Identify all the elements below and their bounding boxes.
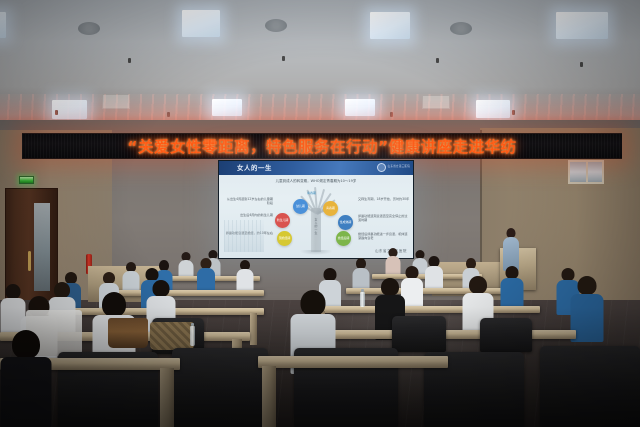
- ceiling-sprinkler-icon: [55, 110, 58, 115]
- attendee: [424, 256, 443, 291]
- water-bottle: [360, 292, 365, 307]
- ceiling-vent: [265, 19, 287, 32]
- attendee-head: [381, 278, 399, 296]
- ceiling-light: [476, 100, 510, 118]
- led-banner-text: “关爱女性零距离，特色服务在行动”健康讲座走进华纺: [127, 135, 516, 157]
- tree-note-right: 又称生育期，18岁开始，历时约30年: [358, 197, 410, 201]
- ceiling-sprinkler-icon: [436, 58, 439, 63]
- tree-node: 新生儿期: [275, 213, 290, 228]
- chair[interactable]: [172, 348, 268, 427]
- ceiling-access-panel: [422, 95, 450, 109]
- desk: [312, 306, 540, 313]
- tree-node: 围绝经期: [277, 231, 292, 246]
- tree-note-right: 绝经后卵巢功能进一步衰退，机体逐渐趋向衰老: [358, 232, 410, 240]
- tree-node: 青春期: [323, 201, 338, 216]
- handbag: [150, 322, 194, 350]
- wall-window: [568, 160, 604, 184]
- tree-node: 绝经后期: [336, 231, 351, 246]
- ceiling-sprinkler-icon: [128, 58, 131, 63]
- ceiling-sprinkler-icon: [580, 62, 583, 67]
- ceiling-light: [370, 12, 410, 39]
- ceiling: [0, 0, 640, 140]
- desk-leg: [160, 368, 174, 427]
- attendee-head: [578, 276, 597, 295]
- ceiling-light: [212, 99, 242, 116]
- attendee: [122, 262, 140, 292]
- ceiling-light: [0, 12, 6, 38]
- door-handle[interactable]: [28, 251, 31, 271]
- tree-note-right: 卵巢功能逐渐衰退直至完全停止的过渡时期: [358, 214, 410, 222]
- tree-note-left: 出生后4周内的新生儿期: [225, 213, 273, 217]
- tree-trunk-label: 女人的一生: [314, 218, 318, 235]
- ceiling-light: [556, 12, 608, 39]
- attendee: [352, 258, 370, 291]
- ceiling-access-panel: [102, 94, 130, 109]
- chair[interactable]: [540, 346, 640, 427]
- door-glass-panel: [34, 203, 50, 291]
- ceiling-vent: [78, 22, 100, 35]
- presentation-slide: 女人的一生 山东省立第三医院 儿童到成人的转变期，WHO规定青春期为10～19岁…: [219, 161, 413, 258]
- water-bottle: [190, 326, 195, 346]
- led-banner: “关爱女性零距离，特色服务在行动”健康讲座走进华纺: [22, 133, 622, 159]
- tree-node-label: 青春期: [326, 207, 335, 210]
- desk: [258, 356, 448, 368]
- attendee: [236, 260, 254, 292]
- tree-node-label: 绝经后期: [338, 237, 350, 240]
- ceiling-vent: [450, 22, 472, 35]
- attendee-head: [6, 284, 21, 299]
- tree-node-label: 新生儿期: [277, 219, 289, 222]
- ceiling-sprinkler-icon: [167, 112, 170, 117]
- attendee-head: [469, 276, 487, 294]
- tree-node-label: 幼儿期: [296, 205, 305, 208]
- attendee-body: [1, 357, 52, 427]
- chair[interactable]: [480, 318, 532, 352]
- attendee: [196, 258, 215, 292]
- tree-note-left: 从出生4周起到12岁左右的儿童期阶段: [225, 197, 273, 205]
- projection-screen: 女人的一生 山东省立第三医院 儿童到成人的转变期，WHO规定青春期为10～19岁…: [218, 160, 414, 259]
- tree-node: 性成熟期: [338, 215, 353, 230]
- desk-leg: [262, 366, 276, 427]
- tree-node-label: 性成熟期: [340, 221, 352, 224]
- lecture-hall-photo: “关爱女性零距离，特色服务在行动”健康讲座走进华纺 女人的一生 山东省立第三医院…: [0, 0, 640, 427]
- attendee-head: [301, 290, 326, 316]
- tree-trunk: 女人的一生: [311, 208, 321, 252]
- attendee: [178, 252, 194, 278]
- desk-leg: [250, 313, 257, 345]
- chair[interactable]: [392, 316, 446, 352]
- ceiling-light: [345, 99, 375, 116]
- handbag: [108, 318, 148, 348]
- slide-building-watermark: [224, 220, 264, 252]
- attendee-head: [12, 330, 40, 359]
- attendee-head: [153, 280, 170, 297]
- attendee: [385, 248, 401, 276]
- tree-top-label: 青春期: [307, 191, 316, 195]
- tree-root: [300, 250, 332, 255]
- emergency-exit-icon: [19, 176, 34, 184]
- ceiling-sprinkler-icon: [390, 112, 393, 117]
- attendee: [0, 330, 52, 426]
- ceiling-sprinkler-icon: [512, 110, 515, 115]
- attendee-head: [102, 292, 126, 317]
- tree-node: 幼儿期: [293, 199, 308, 214]
- ceiling-light: [182, 10, 220, 37]
- tree-node-label: 围绝经期: [279, 237, 291, 240]
- ceiling-sprinkler-icon: [282, 56, 285, 61]
